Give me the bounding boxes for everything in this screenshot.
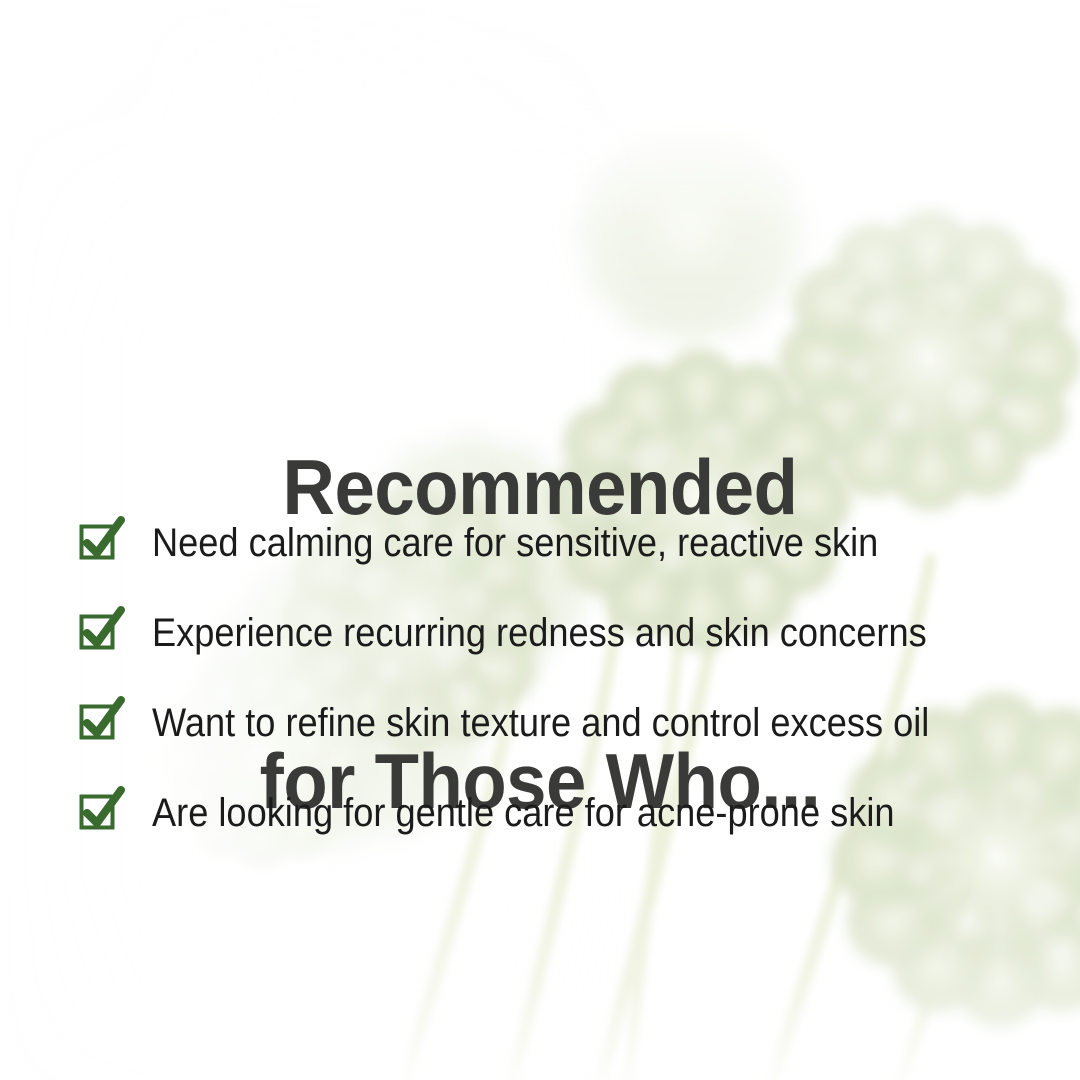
checklist-item-label: Are looking for gentle care for acne-pro… bbox=[152, 790, 895, 836]
checklist-item: Want to refine skin texture and control … bbox=[78, 678, 1038, 768]
checklist-item-label: Need calming care for sensitive, reactiv… bbox=[152, 520, 878, 566]
content-layer: Recommended for Those Who... Need calmin… bbox=[0, 0, 1080, 1080]
checked-checkbox-icon bbox=[78, 608, 124, 654]
checked-checkbox-icon bbox=[78, 518, 124, 564]
checklist-item-label: Want to refine skin texture and control … bbox=[152, 700, 929, 746]
checklist-item: Are looking for gentle care for acne-pro… bbox=[78, 768, 1038, 858]
checklist-item: Need calming care for sensitive, reactiv… bbox=[78, 498, 1038, 588]
checklist-item: Experience recurring redness and skin co… bbox=[78, 588, 1038, 678]
checklist-item-label: Experience recurring redness and skin co… bbox=[152, 610, 927, 656]
checked-checkbox-icon bbox=[78, 698, 124, 744]
poster-canvas: Recommended for Those Who... Need calmin… bbox=[0, 0, 1080, 1080]
checked-checkbox-icon bbox=[78, 788, 124, 834]
recommendation-checklist: Need calming care for sensitive, reactiv… bbox=[78, 498, 1038, 858]
